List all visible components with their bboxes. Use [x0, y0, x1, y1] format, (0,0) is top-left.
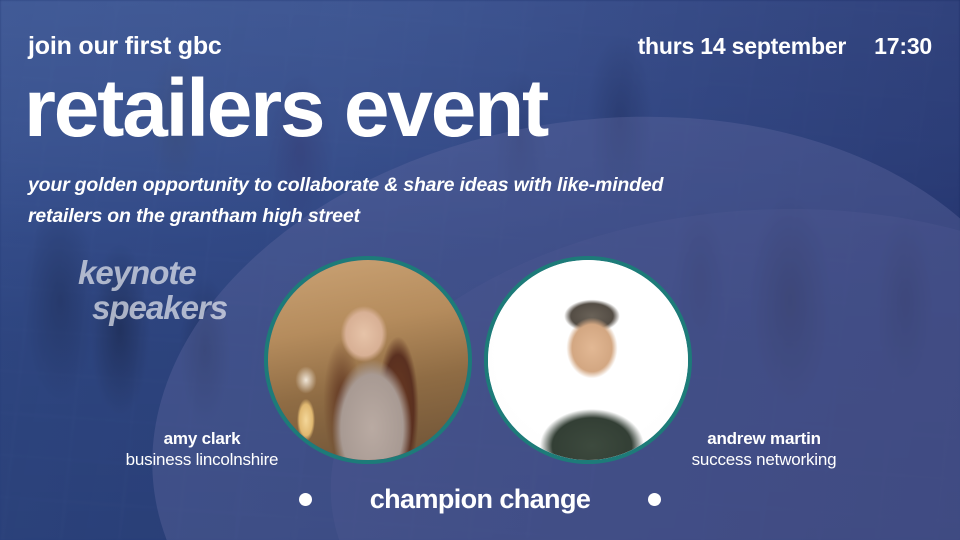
page-title: retailers event: [24, 68, 547, 150]
subtitle: your golden opportunity to collaborate &…: [28, 170, 663, 232]
keynote-label-line-1: keynote: [78, 254, 196, 291]
subtitle-line-1: your golden opportunity to collaborate &…: [28, 170, 663, 201]
portrait-image-andrew-martin: [488, 260, 688, 460]
speaker-photo-andrew-martin: [484, 256, 692, 464]
keynote-speakers-label: keynote speakers: [78, 256, 227, 326]
bullet-dot-icon-left: [299, 493, 312, 506]
speaker-name: amy clark: [104, 428, 300, 449]
bottom-tagline-bar: champion change: [0, 458, 960, 540]
event-date: thurs 14 september: [638, 33, 847, 60]
event-poster: join our first gbc thurs 14 september 17…: [0, 0, 960, 540]
kicker-text: join our first gbc: [28, 32, 222, 61]
speaker-name: andrew martin: [664, 428, 864, 449]
keynote-label-line-2: speakers: [78, 291, 227, 326]
event-time: 17:30: [874, 33, 932, 60]
event-datetime: thurs 14 september 17:30: [638, 33, 932, 60]
tagline-text: champion change: [370, 484, 591, 515]
bullet-dot-icon-right: [648, 493, 661, 506]
subtitle-line-2: retailers on the grantham high street: [28, 201, 663, 232]
